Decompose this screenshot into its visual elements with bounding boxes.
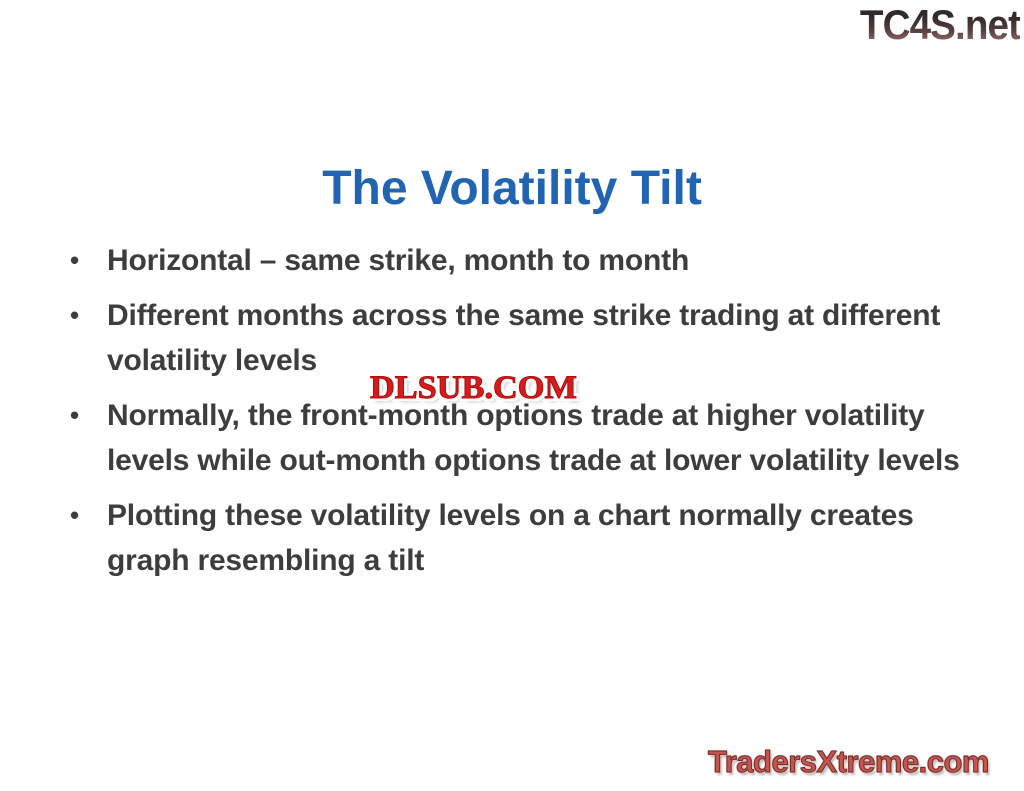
list-item: • Normally, the front-month options trad… [62, 393, 972, 483]
list-item: • Plotting these volatility levels on a … [62, 493, 972, 583]
tradersxtreme-logo: TradersXtreme.com [708, 744, 989, 780]
list-item-text: Horizontal – same strike, month to month [107, 238, 972, 283]
tc4s-logo: TC4S.net [860, 2, 1020, 48]
bullet-marker-icon: • [70, 393, 79, 438]
list-item: • Horizontal – same strike, month to mon… [62, 238, 972, 283]
bullet-list: • Horizontal – same strike, month to mon… [62, 238, 972, 583]
slide-canvas: { "slide": { "title": "The Volatility Ti… [0, 0, 1024, 791]
bullet-marker-icon: • [70, 238, 79, 283]
bullet-marker-icon: • [70, 493, 79, 538]
bullet-marker-icon: • [70, 293, 79, 338]
page-title: The Volatility Tilt [0, 161, 1024, 217]
list-item-text: Plotting these volatility levels on a ch… [107, 493, 972, 583]
watermark-overlay: DLSUB.COM [370, 371, 577, 405]
list-item-text: Normally, the front-month options trade … [107, 393, 972, 483]
